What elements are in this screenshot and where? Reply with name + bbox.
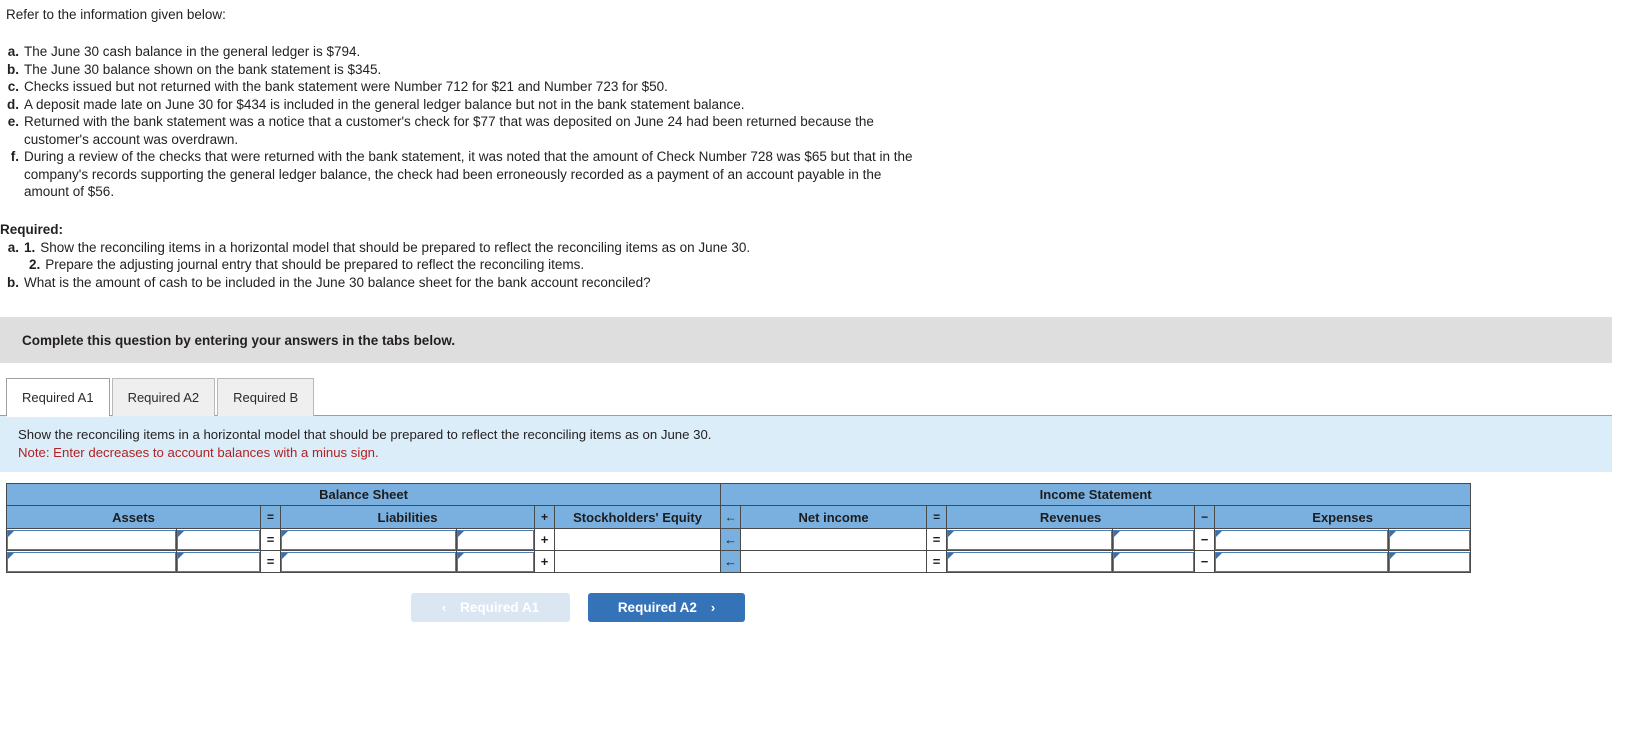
cell-revenues-account-r2[interactable] [1113,551,1195,573]
input-liabilities-amount-r2[interactable] [281,552,456,572]
column-header-net-income: Net income [741,506,927,529]
cell-expenses-account-r1[interactable] [1389,529,1471,551]
fact-text: A deposit made late on June 30 for $434 … [24,96,1646,114]
chevron-left-icon: ‹ [442,600,446,615]
facts-list: a. The June 30 cash balance in the gener… [0,43,1646,201]
operator-header-plus: + [535,506,555,529]
input-revenues-amount-r2[interactable] [947,552,1112,572]
cell-expenses-amount-r1[interactable] [1215,529,1389,551]
required-section: Required: a. 1. Show the reconciling ite… [0,221,1646,292]
fact-item: b. The June 30 balance shown on the bank… [0,61,1646,79]
tab-required-a2[interactable]: Required A2 [112,378,216,416]
fact-text: During a review of the checks that were … [24,148,920,201]
cell-revenues-amount-r1[interactable] [947,529,1113,551]
fact-label: b. [0,61,24,79]
column-header-expenses: Expenses [1215,506,1471,529]
input-assets-amount-r1[interactable] [7,530,176,550]
cell-stockholders-equity-r2[interactable] [555,551,721,573]
operator-equals2-r1: = [927,529,947,551]
cell-assets-account-r1[interactable] [177,529,261,551]
input-liabilities-account-r1[interactable] [457,530,534,550]
cell-liabilities-account-r2[interactable] [457,551,535,573]
operator-equals2-r2: = [927,551,947,573]
operator-minus-r2: − [1195,551,1215,573]
chevron-right-icon: › [711,600,715,615]
input-revenues-account-r2[interactable] [1113,552,1194,572]
column-header-stockholders-equity: Stockholders' Equity [555,506,721,529]
fact-item: f. During a review of the checks that we… [0,148,1646,201]
required-item-label: b. [0,274,24,292]
input-revenues-amount-r1[interactable] [947,530,1112,550]
cell-expenses-account-r2[interactable] [1389,551,1471,573]
table-row: = + ← = − [7,551,1471,573]
column-header-assets: Assets [7,506,261,529]
exercise-page: Refer to the information given below: a.… [0,0,1646,622]
next-button-label: Required A2 [618,600,697,615]
input-assets-account-r2[interactable] [177,552,260,572]
fact-text: The June 30 balance shown on the bank st… [24,61,1646,79]
column-header-liabilities: Liabilities [281,506,535,529]
operator-header-equals-1: = [261,506,281,529]
fact-label: d. [0,96,24,114]
fact-item: c. Checks issued but not returned with t… [0,78,1646,96]
fact-text: Checks issued but not returned with the … [24,78,1646,96]
fact-item: d. A deposit made late on June 30 for $4… [0,96,1646,114]
group-header-balance-sheet: Balance Sheet [7,484,721,506]
input-liabilities-account-r2[interactable] [457,552,534,572]
operator-header-minus: − [1195,506,1215,529]
group-header-income-statement: Income Statement [721,484,1471,506]
required-item-number: 1. [24,239,40,257]
fact-item: a. The June 30 cash balance in the gener… [0,43,1646,61]
fact-text: The June 30 cash balance in the general … [24,43,1646,61]
required-item-number: 2. [29,256,45,274]
input-revenues-account-r1[interactable] [1113,530,1194,550]
cell-liabilities-amount-r2[interactable] [281,551,457,573]
required-item-text: What is the amount of cash to be include… [24,274,651,292]
operator-equals-r1: = [261,529,281,551]
tab-instruction-note: Note: Enter decreases to account balance… [18,444,1612,462]
required-item-b: b. What is the amount of cash to be incl… [0,274,1646,292]
required-item-a2: 2. Prepare the adjusting journal entry t… [0,256,1646,274]
cell-assets-amount-r1[interactable] [7,529,177,551]
tab-required-b[interactable]: Required B [217,378,314,416]
required-item-label: a. [0,239,24,257]
prev-button-label: Required A1 [460,600,539,615]
cell-net-income-r1[interactable] [741,529,927,551]
intro-text: Refer to the information given below: [0,0,1646,23]
cell-liabilities-amount-r1[interactable] [281,529,457,551]
input-liabilities-amount-r1[interactable] [281,530,456,550]
cell-expenses-amount-r2[interactable] [1215,551,1389,573]
required-heading: Required: [0,221,1646,239]
cell-stockholders-equity-r1[interactable] [555,529,721,551]
column-header-revenues: Revenues [947,506,1195,529]
required-item-text: Prepare the adjusting journal entry that… [45,256,584,274]
cell-assets-account-r2[interactable] [177,551,261,573]
next-required-a2-button[interactable]: Required A2 › [588,593,745,622]
tab-navigation: ‹ Required A1 Required A2 › [0,593,1646,622]
operator-equals-r2: = [261,551,281,573]
operator-minus-r1: − [1195,529,1215,551]
table-row: = + ← = − [7,529,1471,551]
horizontal-model-table: Balance Sheet Income Statement Assets = … [6,483,1471,573]
tab-bar: Required A1 Required A2 Required B [0,378,1646,416]
input-expenses-account-r2[interactable] [1389,552,1470,572]
input-expenses-amount-r2[interactable] [1215,552,1388,572]
input-expenses-amount-r1[interactable] [1215,530,1388,550]
instruction-banner: Complete this question by entering your … [0,317,1612,363]
cell-revenues-account-r1[interactable] [1113,529,1195,551]
operator-header-equals-2: = [927,506,947,529]
cell-revenues-amount-r2[interactable] [947,551,1113,573]
cell-net-income-r2[interactable] [741,551,927,573]
operator-arrow-left-icon-r2: ← [721,551,741,573]
tab-required-a1[interactable]: Required A1 [6,378,110,416]
input-expenses-account-r1[interactable] [1389,530,1470,550]
fact-label: e. [0,113,24,131]
table-column-header-row: Assets = Liabilities + Stockholders' Equ… [7,506,1471,529]
fact-text: Returned with the bank statement was a n… [24,113,914,148]
operator-header-arrow-left-icon: ← [721,506,741,529]
table-group-header-row: Balance Sheet Income Statement [7,484,1471,506]
input-assets-account-r1[interactable] [177,530,260,550]
fact-label: f. [0,148,24,166]
operator-arrow-left-icon-r1: ← [721,529,741,551]
operator-plus-r1: + [535,529,555,551]
fact-label: a. [0,43,24,61]
fact-label: c. [0,78,24,96]
fact-item: e. Returned with the bank statement was … [0,113,1646,148]
prev-required-a1-button[interactable]: ‹ Required A1 [411,593,570,622]
required-item-a1: a. 1. Show the reconciling items in a ho… [0,239,1646,257]
cell-liabilities-account-r1[interactable] [457,529,535,551]
operator-plus-r2: + [535,551,555,573]
cell-assets-amount-r2[interactable] [7,551,177,573]
tab-instruction-panel: Show the reconciling items in a horizont… [0,415,1612,472]
required-item-text: Show the reconciling items in a horizont… [40,239,750,257]
input-assets-amount-r2[interactable] [7,552,176,572]
horizontal-model-wrap: Balance Sheet Income Statement Assets = … [0,483,1646,573]
tab-instruction-text: Show the reconciling items in a horizont… [18,426,1612,444]
